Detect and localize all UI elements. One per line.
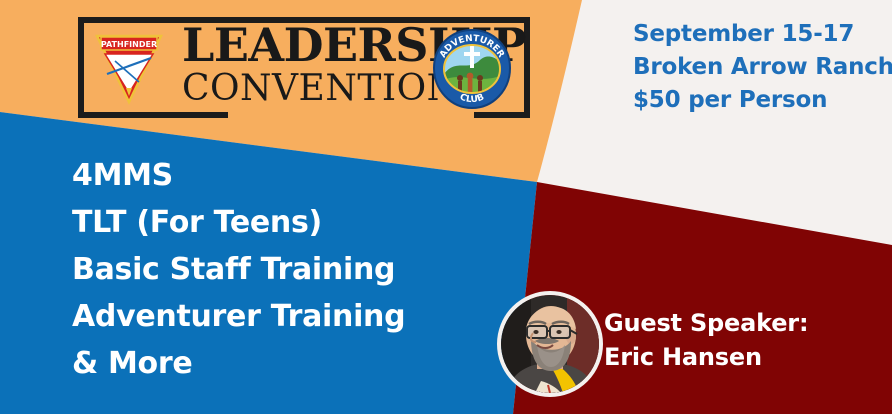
leadership-convention-poster: PATHFINDER LEADERSHIP CONVENTION: [0, 0, 892, 414]
pathfinder-logo: PATHFINDER: [93, 30, 165, 106]
event-info: September 15-17 Broken Arrow Ranch $50 p…: [633, 18, 892, 117]
program-item-basic-staff-training: Basic Staff Training: [72, 246, 405, 293]
pathfinder-wordmark: PATHFINDER: [101, 40, 157, 49]
speaker-portrait-image: [501, 295, 599, 393]
title-block: LEADERSHIP CONVENTION: [182, 19, 442, 109]
title-convention: CONVENTION: [182, 69, 442, 109]
speaker-portrait: [497, 291, 603, 397]
event-venue: Broken Arrow Ranch: [633, 51, 892, 84]
title-leadership: LEADERSHIP: [182, 19, 442, 71]
program-item-tlt: TLT (For Teens): [72, 199, 405, 246]
program-item-adventurer-training: Adventurer Training: [72, 293, 405, 340]
speaker-name: Eric Hansen: [604, 340, 808, 374]
event-price: $50 per Person: [633, 84, 892, 117]
adventurer-club-logo: ADVENTURER CLUB: [430, 28, 514, 110]
speaker-info: Guest Speaker: Eric Hansen: [604, 306, 808, 374]
header-lockup: PATHFINDER LEADERSHIP CONVENTION: [78, 17, 530, 118]
program-item-4mms: 4MMS: [72, 152, 405, 199]
program-item-and-more: & More: [72, 340, 405, 387]
speaker-label: Guest Speaker:: [604, 306, 808, 340]
program-list: 4MMS TLT (For Teens) Basic Staff Trainin…: [72, 152, 405, 387]
event-dates: September 15-17: [633, 18, 892, 51]
